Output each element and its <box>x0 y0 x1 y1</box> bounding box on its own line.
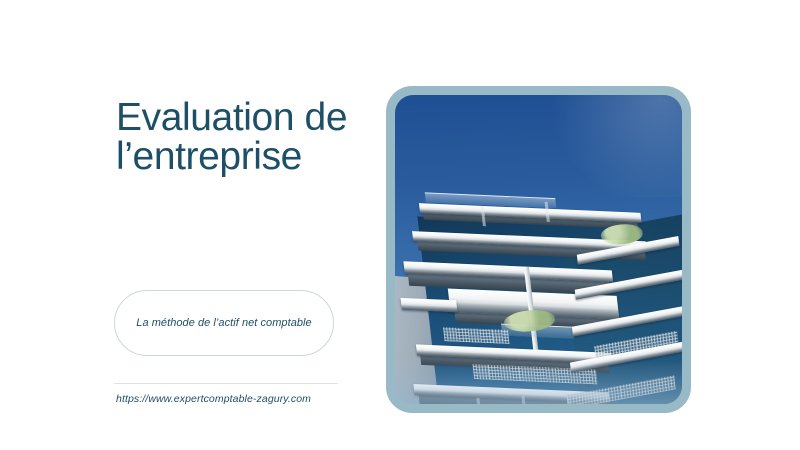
modern-apartment-building-photo <box>395 95 682 404</box>
photo-frame <box>386 86 691 413</box>
divider <box>114 383 338 384</box>
building-mass <box>395 124 682 404</box>
website-url: https://www.expertcomptable-zagury.com <box>116 393 311 405</box>
subtitle-pill: La méthode de l’actif net comptable <box>114 290 334 356</box>
page-title: Evaluation de l’entreprise <box>116 98 376 176</box>
subtitle-text: La méthode de l’actif net comptable <box>136 317 311 329</box>
slide-canvas: Evaluation de l’entreprise La méthode de… <box>0 0 800 450</box>
